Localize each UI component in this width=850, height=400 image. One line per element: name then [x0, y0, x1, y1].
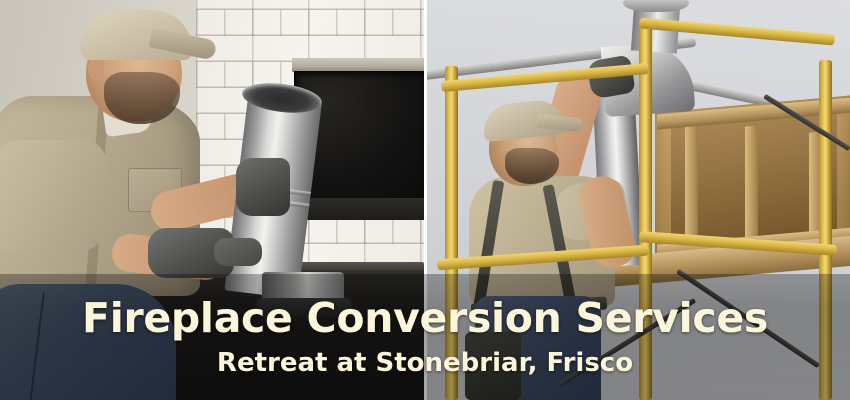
wood-chase-stud-1 [685, 121, 698, 246]
worker-left-sleeve [0, 140, 106, 252]
worker-left-glove-fingers [214, 238, 262, 266]
page-subtitle: Retreat at Stonebriar, Frisco [217, 349, 633, 378]
firebox-lower-lip [296, 198, 424, 220]
page-title: Fireplace Conversion Services [82, 297, 768, 340]
service-banner: Fireplace Conversion Services Retreat at… [0, 0, 850, 400]
wood-chase-stud-2 [745, 125, 758, 248]
caption-text-group: Fireplace Conversion Services Retreat at… [0, 274, 850, 400]
worker-left-ear [88, 58, 104, 80]
worker-left-glove-upper [236, 158, 290, 216]
caption-overlay-band: Fireplace Conversion Services Retreat at… [0, 274, 850, 400]
fireplace-lintel [292, 58, 424, 72]
